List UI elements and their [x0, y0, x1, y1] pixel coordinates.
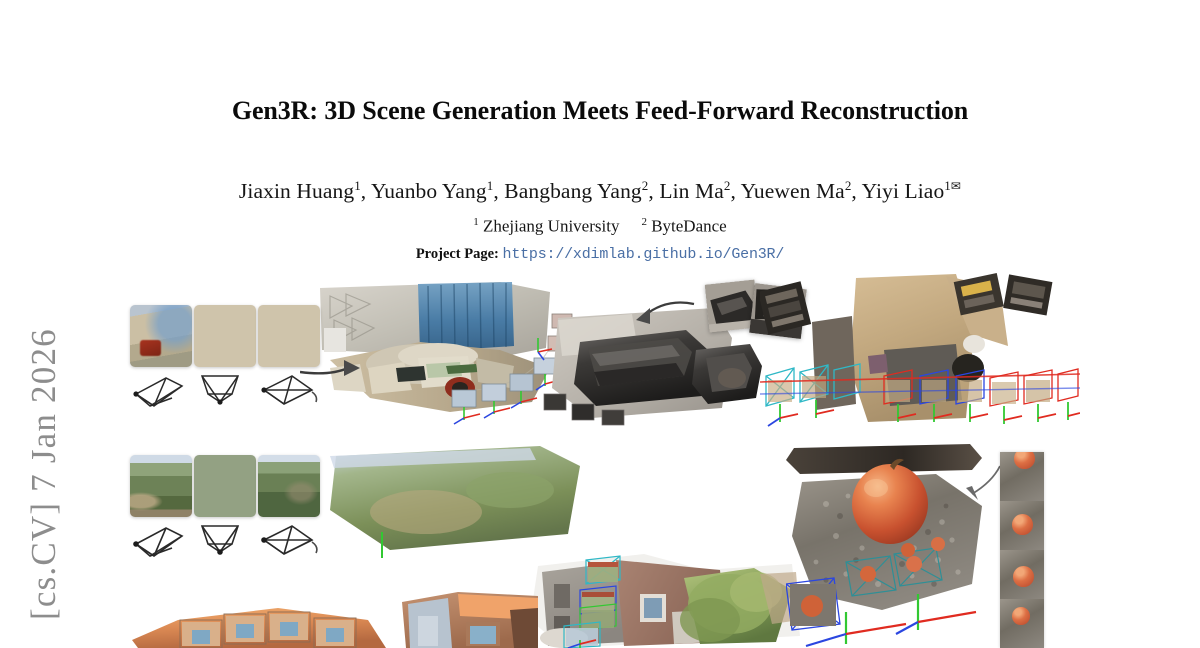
author-affiliation-marker: 1 [487, 178, 494, 193]
teaser-figure: 1-view based Generation 2-view based Gen… [0, 272, 1200, 648]
input-thumbnail-photo[interactable] [130, 305, 192, 367]
camera-frustum-icon [258, 372, 318, 414]
camera-frustum-icon [128, 522, 188, 564]
camera-frustum-icon [258, 522, 318, 564]
affiliation-name: ByteDance [651, 217, 727, 236]
suburban-house-reconstruction [524, 550, 814, 648]
author-name: Jiaxin Huang [239, 179, 354, 203]
apple-thumbnail [1012, 607, 1030, 625]
apple-thumbnail [1014, 452, 1035, 469]
author-name: Yuanbo Yang [371, 179, 487, 203]
author-affiliation-marker: 2 [724, 178, 731, 193]
author-affiliation-marker: 1✉ [944, 178, 961, 193]
author-affiliation-marker: 1 [354, 178, 361, 193]
affiliation-marker: 2 [641, 216, 647, 228]
camera-frustum-icon [194, 372, 254, 414]
filmstrip-cell [1000, 452, 1044, 501]
aerial-terrain-reconstruction [330, 442, 590, 562]
author-name: Yiyi Liao [862, 179, 945, 203]
author-list: Jiaxin Huang1, Yuanbo Yang1, Bangbang Ya… [0, 178, 1200, 204]
author-affiliation-marker: 2 [845, 178, 852, 193]
apple-thumbnail [1013, 566, 1034, 587]
project-page-line: Project Page: https://xdimlab.github.io/… [0, 246, 1200, 263]
filmstrip-cell [1000, 550, 1044, 599]
affiliation-marker: 1 [473, 216, 479, 228]
author-name: Bangbang Yang [504, 179, 641, 203]
affiliation-name: Zhejiang University [483, 217, 619, 236]
paper-header: Gen3R: 3D Scene Generation Meets Feed-Fo… [0, 0, 1200, 263]
envelope-icon: ✉ [951, 179, 961, 193]
camera-frustum-icon [128, 372, 188, 414]
apple-reference-filmstrip [1000, 452, 1044, 648]
author-affiliation-marker: 2 [642, 178, 649, 193]
tan-room-reconstruction [760, 272, 1080, 432]
camera-frustum-icon [194, 522, 254, 564]
apple-thumbnail [1012, 514, 1033, 535]
input-thumbnail-photo[interactable] [258, 455, 320, 517]
input-thumbnail-placeholder[interactable] [258, 305, 320, 367]
project-page-label: Project Page: [416, 246, 499, 262]
author-name: Lin Ma [659, 179, 724, 203]
warm-interior-reconstruction [118, 590, 538, 648]
affiliation-list: 1 Zhejiang University2 ByteDance [0, 216, 1200, 237]
filmstrip-cell [1000, 501, 1044, 550]
page-title: Gen3R: 3D Scene Generation Meets Feed-Fo… [0, 96, 1200, 126]
arxiv-stamp-text: [cs.CV] 7 Jan 2026 [24, 0, 64, 626]
author-name: Yuewen Ma [741, 179, 845, 203]
input-thumbnail-photo[interactable] [130, 455, 192, 517]
input-thumbnail-placeholder[interactable] [194, 305, 256, 367]
input-thumbnail-placeholder[interactable] [194, 455, 256, 517]
filmstrip-cell [1000, 599, 1044, 648]
project-page-link[interactable]: https://xdimlab.github.io/Gen3R/ [503, 246, 785, 263]
arxiv-stamp: [cs.CV] 7 Jan 2026 [0, 0, 78, 648]
